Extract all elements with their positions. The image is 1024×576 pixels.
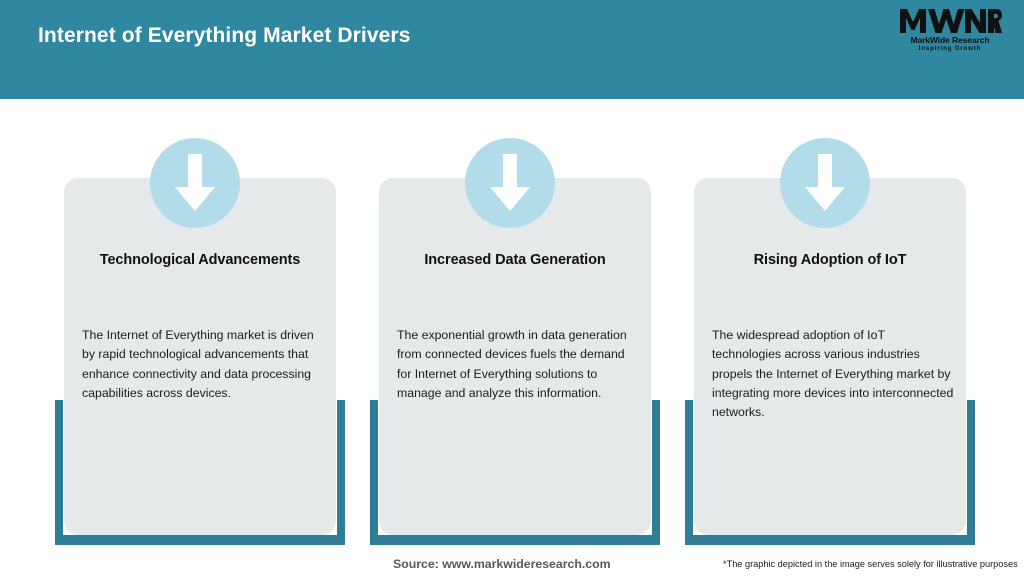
card-panel: Increased Data Generation The exponentia…: [379, 178, 651, 535]
arrow-down-icon: [150, 138, 240, 228]
card-body-text: The widespread adoption of IoT technolog…: [712, 326, 954, 422]
bracket-bottom-bar: [370, 535, 660, 545]
bracket-right-bar: [967, 400, 975, 545]
source-label: Source: www.markwideresearch.com: [393, 557, 611, 571]
driver-card-2: Increased Data Generation The exponentia…: [370, 178, 660, 545]
card-title: Rising Adoption of IoT: [694, 252, 966, 268]
card-panel: Technological Advancements The Internet …: [64, 178, 336, 535]
card-body-text: The Internet of Everything market is dri…: [82, 326, 324, 403]
bracket-bottom-bar: [685, 535, 975, 545]
card-body-text: The exponential growth in data generatio…: [397, 326, 639, 403]
card-panel: Rising Adoption of IoT The widespread ad…: [694, 178, 966, 535]
driver-card-3: Rising Adoption of IoT The widespread ad…: [685, 178, 975, 545]
arrow-down-icon: [465, 138, 555, 228]
card-title: Technological Advancements: [64, 252, 336, 268]
card-title: Increased Data Generation: [379, 252, 651, 268]
bracket-left-bar: [55, 400, 63, 545]
arrow-down-icon: [780, 138, 870, 228]
bracket-left-bar: [370, 400, 378, 545]
bracket-right-bar: [337, 400, 345, 545]
driver-card-1: Technological Advancements The Internet …: [55, 178, 345, 545]
bracket-bottom-bar: [55, 535, 345, 545]
disclaimer-note: *The graphic depicted in the image serve…: [723, 559, 1018, 569]
bracket-right-bar: [652, 400, 660, 545]
bracket-left-bar: [685, 400, 693, 545]
driver-card-list: Technological Advancements The Internet …: [0, 0, 1024, 576]
